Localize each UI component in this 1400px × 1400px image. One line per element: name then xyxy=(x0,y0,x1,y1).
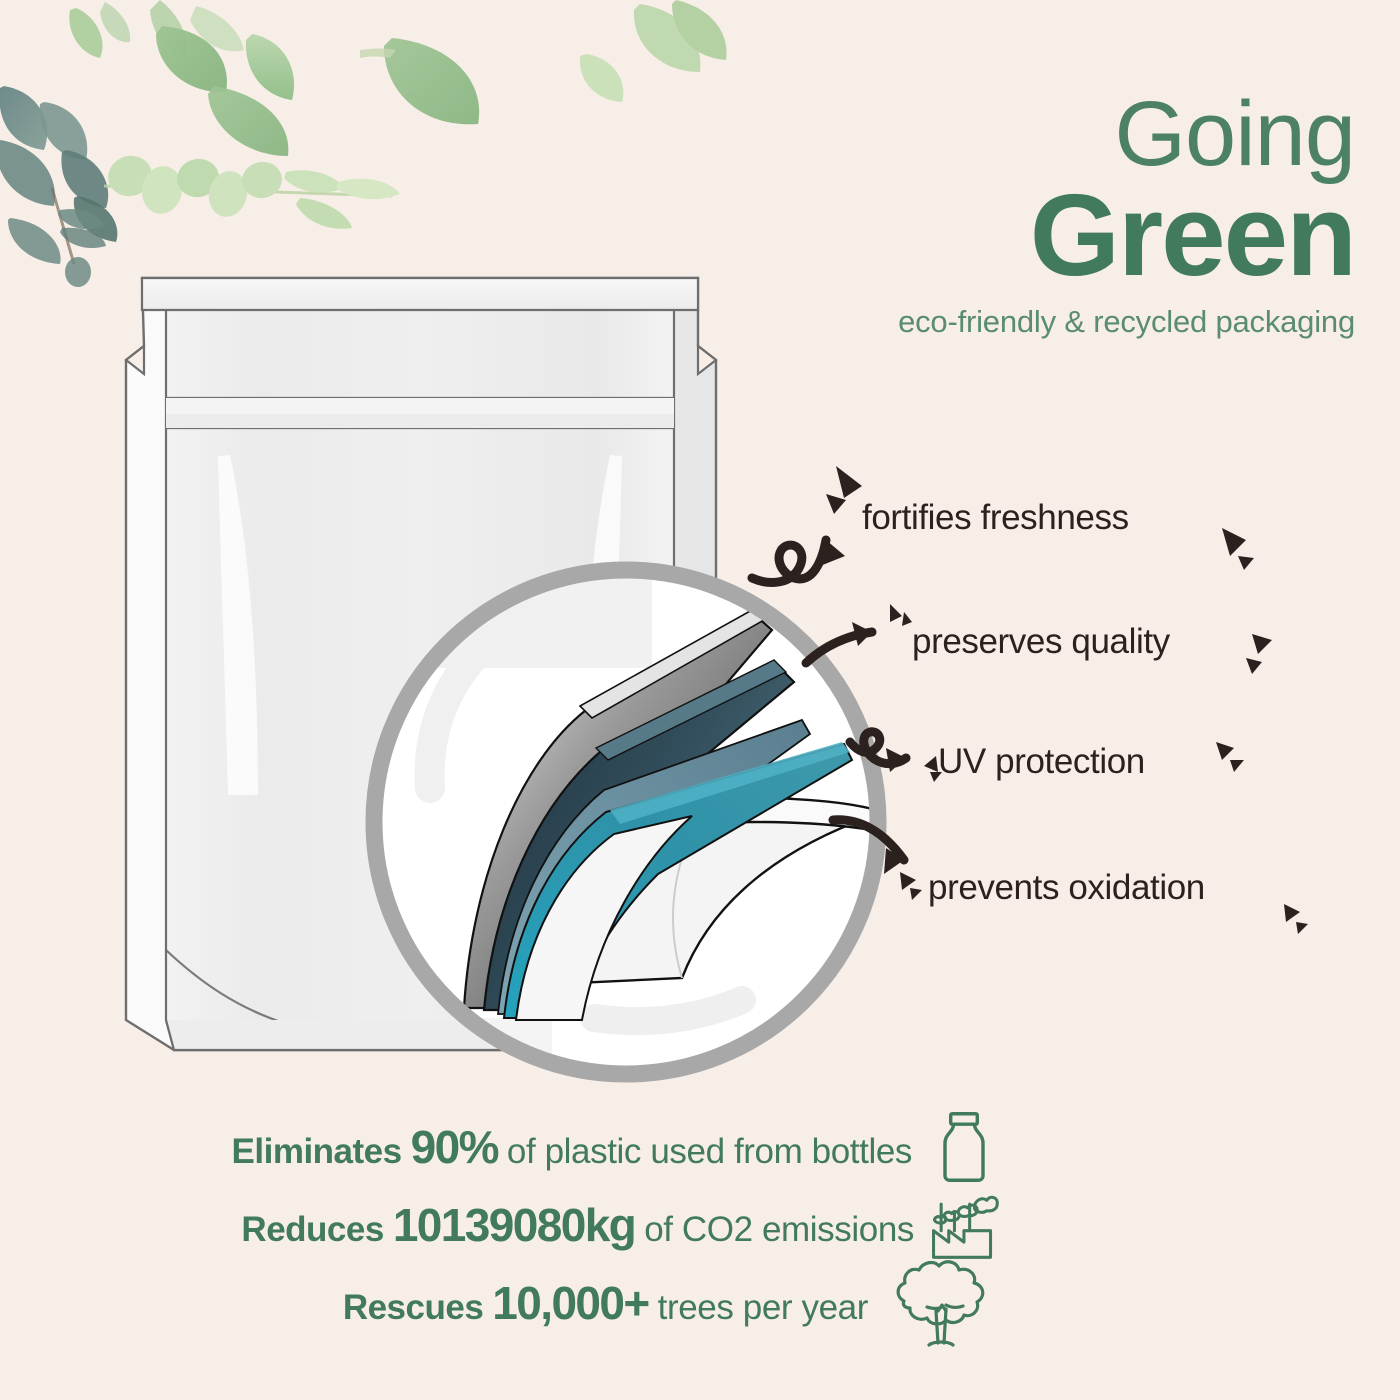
feature-label-uv-protection: UV protection xyxy=(938,742,1145,782)
magnified-film-layers-illustration xyxy=(352,548,900,1096)
title-line-green: Green xyxy=(735,181,1355,290)
stat-text-co2: Reduces 10139080kg of CO2 emissions xyxy=(241,1198,914,1252)
stat-value-plastic: 90% xyxy=(411,1120,498,1174)
stat-lead-trees: Rescues xyxy=(343,1288,483,1328)
stat-value-co2: 10139080kg xyxy=(393,1198,635,1252)
feature-label-prevents-oxidation: prevents oxidation xyxy=(928,868,1205,908)
factory-icon xyxy=(926,1187,1000,1263)
page-subtitle: eco-friendly & recycled packaging xyxy=(735,304,1355,340)
stat-tail-plastic: of plastic used from bottles xyxy=(507,1132,912,1172)
infographic-canvas: Going Green eco-friendly & recycled pack… xyxy=(0,0,1400,1400)
stat-row-trees: Rescues 10,000+ trees per year xyxy=(0,1264,1010,1342)
impact-stats-list: Eliminates 90% of plastic used from bott… xyxy=(0,1108,1010,1342)
stat-row-co2: Reduces 10139080kg of CO2 emissions xyxy=(0,1186,1010,1264)
bottle-icon xyxy=(928,1109,1000,1185)
stat-lead-co2: Reduces xyxy=(241,1210,383,1250)
stat-row-plastic: Eliminates 90% of plastic used from bott… xyxy=(0,1108,1010,1186)
stat-text-plastic: Eliminates 90% of plastic used from bott… xyxy=(232,1120,912,1174)
stat-value-trees: 10,000+ xyxy=(492,1276,648,1330)
stat-text-trees: Rescues 10,000+ trees per year xyxy=(343,1276,868,1330)
title-line-going: Going xyxy=(735,92,1355,177)
stat-tail-co2: of CO2 emissions xyxy=(644,1210,914,1250)
feature-label-fortifies-freshness: fortifies freshness xyxy=(862,498,1129,538)
page-title-block: Going Green eco-friendly & recycled pack… xyxy=(735,92,1355,340)
feature-label-preserves-quality: preserves quality xyxy=(912,622,1170,662)
tree-icon xyxy=(880,1257,1000,1349)
stat-tail-trees: trees per year xyxy=(658,1288,868,1328)
stat-lead-plastic: Eliminates xyxy=(232,1132,402,1172)
